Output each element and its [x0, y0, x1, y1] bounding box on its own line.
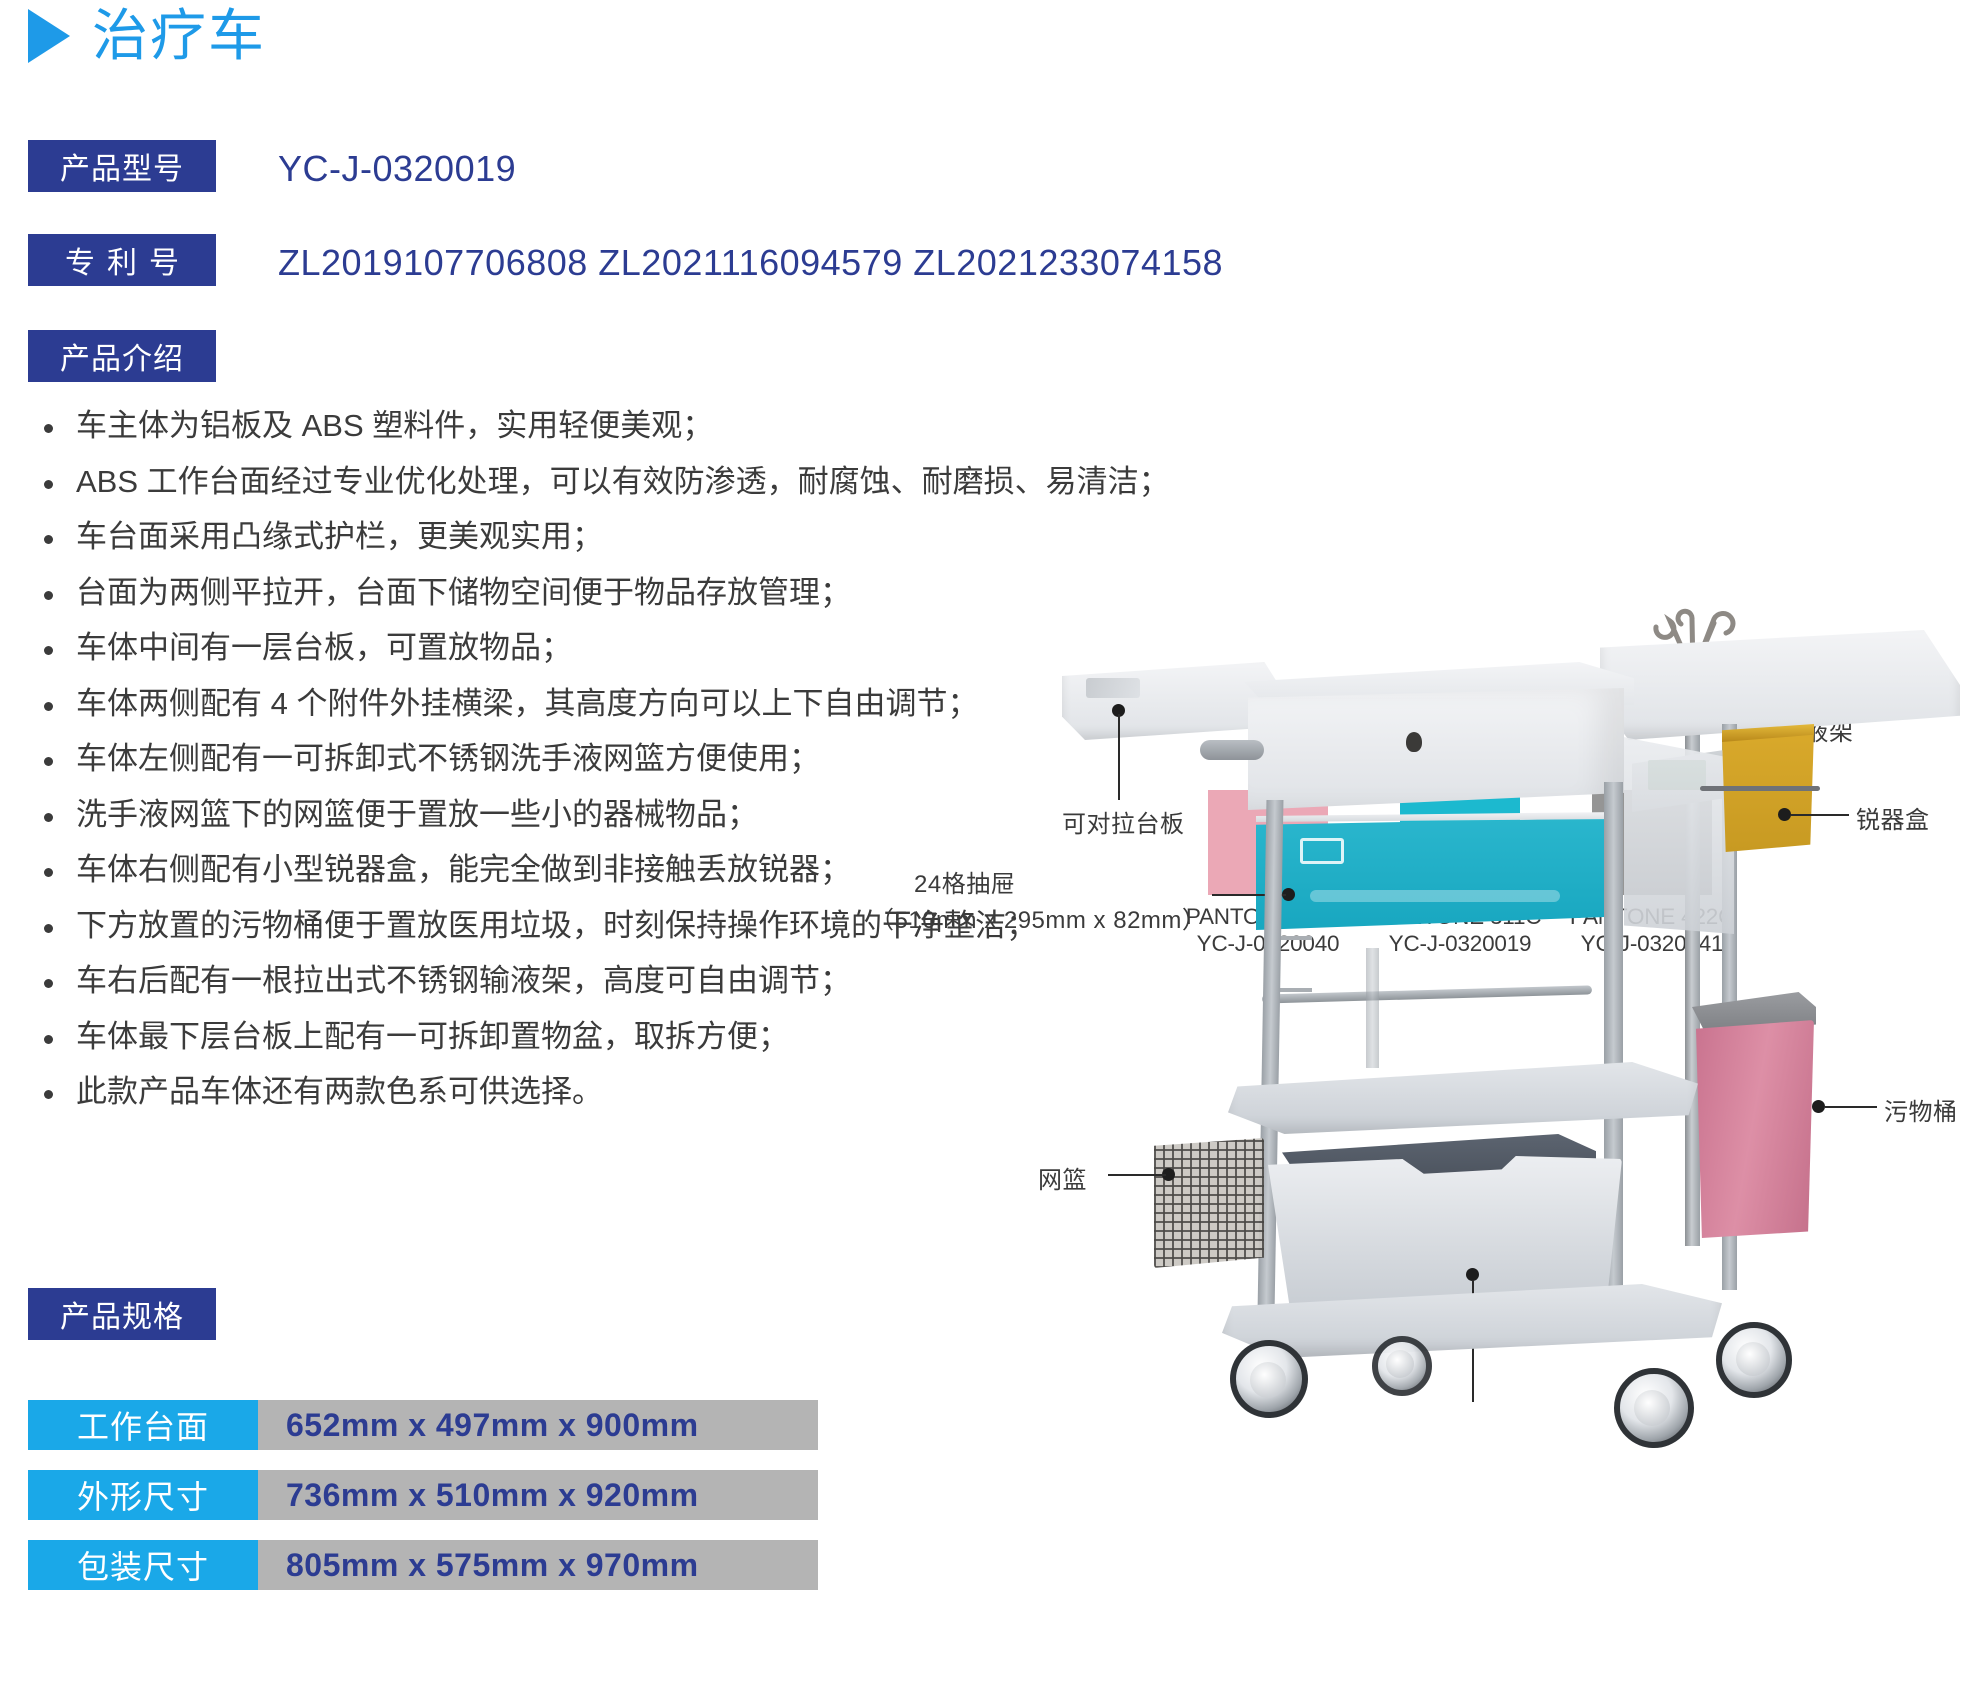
- caster-front-left-hub: [1250, 1362, 1286, 1398]
- spec-key: 工作台面: [28, 1400, 258, 1450]
- brand-logo: [1086, 678, 1140, 698]
- drawer-label-holder: [1300, 838, 1344, 864]
- table-row: 工作台面 652mm x 497mm x 900mm: [28, 1400, 818, 1450]
- spec-value: 736mm x 510mm x 920mm: [258, 1470, 818, 1520]
- callout-leader-pull-out-board: [1118, 714, 1120, 800]
- mesh-basket: [1154, 1138, 1264, 1268]
- cart-upper-cabinet: [1248, 688, 1624, 810]
- spec-value: 652mm x 497mm x 900mm: [258, 1400, 818, 1450]
- callout-label-drawer-dims: （510mm x 295mm x 82mm）: [870, 900, 1206, 935]
- table-row: 外形尺寸 736mm x 510mm x 920mm: [28, 1470, 818, 1520]
- caster-rear-left-hub: [1386, 1350, 1414, 1378]
- table-row: 包装尺寸 805mm x 575mm x 970mm: [28, 1540, 818, 1590]
- drawer-pull: [1310, 890, 1560, 902]
- play-triangle-icon: [28, 9, 70, 63]
- caster-front-right-hub: [1634, 1390, 1670, 1426]
- drawer-24-cell: [1256, 818, 1618, 930]
- cart-post-rear-left: [1366, 948, 1379, 1068]
- callout-leader-waste-bin: [1825, 1106, 1877, 1108]
- page-title-row: 治疗车: [28, 8, 266, 64]
- sharps-box-bracket: [1700, 786, 1820, 791]
- spec-key: 包装尺寸: [28, 1540, 258, 1590]
- callout-label-mesh-basket: 网篮: [1038, 1160, 1087, 1195]
- worktop-right-board: [1600, 630, 1960, 740]
- callout-leader-sharps-box: [1791, 814, 1849, 816]
- callout-label-sharps-box: 锐器盒: [1856, 800, 1930, 835]
- label-badge-product-intro: 产品介绍: [28, 330, 216, 382]
- product-photo: 输液架 可对拉台板 24格抽屉 （510mm x 295mm x 82mm） 锐…: [1000, 600, 1964, 1708]
- list-item: 车主体为铝板及 ABS 塑料件，实用轻便美观；: [28, 410, 1258, 441]
- label-badge-model: 产品型号: [28, 140, 216, 192]
- cart-middle-shelf: [1228, 1062, 1698, 1134]
- spec-key: 外形尺寸: [28, 1470, 258, 1520]
- callout-label-waste-bin: 污物桶: [1884, 1092, 1958, 1127]
- value-model-number: YC-J-0320019: [278, 148, 516, 190]
- callout-label-drawer: 24格抽屉: [914, 864, 1015, 899]
- callout-dot-sharps-box: [1778, 808, 1791, 821]
- callout-leader-mesh-basket: [1108, 1174, 1166, 1176]
- spec-value: 805mm x 575mm x 970mm: [258, 1540, 818, 1590]
- waste-bin-body: [1696, 1020, 1814, 1238]
- cabinet-lock-icon: [1406, 732, 1422, 752]
- cart-push-handle: [1200, 740, 1264, 760]
- callout-dot-waste-bin: [1812, 1100, 1825, 1113]
- callout-label-pull-out-board: 可对拉台板: [1062, 804, 1185, 839]
- list-item: ABS 工作台面经过专业优化处理，可以有效防渗透，耐腐蚀、耐磨损、易清洁；: [28, 466, 1258, 497]
- label-badge-patent: 专利号: [28, 234, 216, 286]
- storage-basin: [1268, 1156, 1622, 1304]
- list-item: 车台面采用凸缘式护栏，更美观实用；: [28, 521, 1258, 552]
- sharps-box: [1722, 730, 1814, 852]
- caster-rear-right-hub: [1736, 1342, 1770, 1376]
- value-patent-numbers: ZL2019107706808 ZL2021116094579 ZL202123…: [278, 242, 1223, 284]
- spec-table: 工作台面 652mm x 497mm x 900mm 外形尺寸 736mm x …: [28, 1400, 818, 1610]
- page-title: 治疗车: [92, 8, 266, 64]
- label-badge-specs: 产品规格: [28, 1288, 216, 1340]
